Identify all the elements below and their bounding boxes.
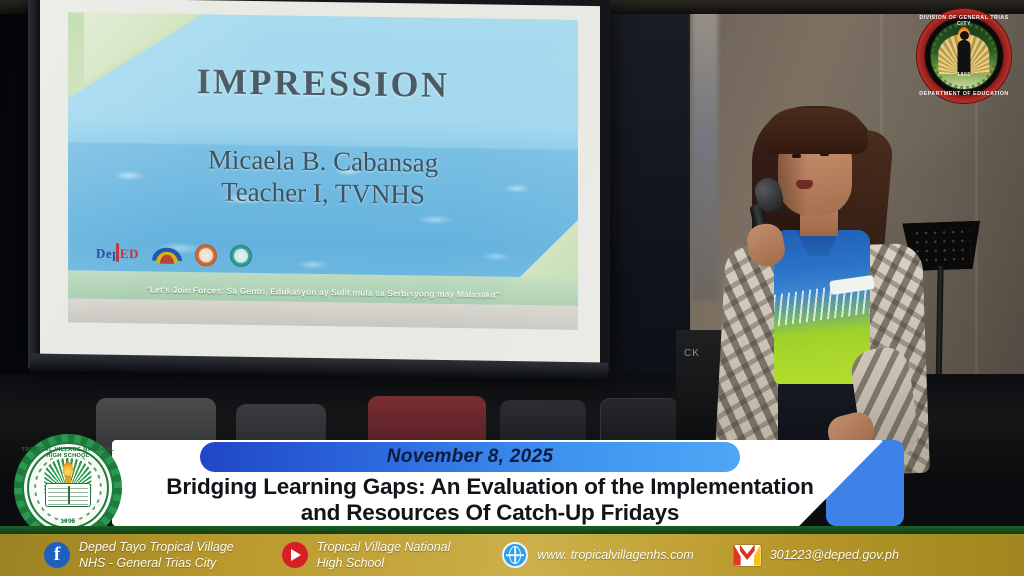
school-seal-text-top: TROPICAL VILLAGE NATIONAL HIGH SCHOOL <box>14 447 122 459</box>
globe-icon[interactable] <box>502 542 528 568</box>
facebook-text: Deped Tayo Tropical Village NHS - Genera… <box>79 539 234 571</box>
footer-contact-bar: f Deped Tayo Tropical Village NHS - Gene… <box>0 534 1024 576</box>
presenter-eye-left <box>792 154 801 158</box>
school-seal-year: 1995 <box>14 519 122 525</box>
banner-title-line2: and Resources Of Catch-Up Fridays <box>120 500 860 526</box>
division-seal-text-bottom: DEPARTMENT OF EDUCATION <box>916 91 1012 97</box>
projection-screen-left-edge <box>28 0 40 368</box>
projection-screen-surface: IMPRESSION Micaela B. Cabansag Teacher I… <box>40 0 600 372</box>
slide-title: IMPRESSION <box>68 58 578 108</box>
presenter-mouth <box>796 180 813 189</box>
deped-wordmark-icon: DepED <box>96 246 139 263</box>
website-url: www. tropicalvillagenhs.com <box>537 547 693 563</box>
banner-title: Bridging Learning Gaps: An Evaluation of… <box>120 474 860 527</box>
website-text: www. tropicalvillagenhs.com <box>537 547 693 563</box>
contact-website[interactable]: www. tropicalvillagenhs.com <box>502 542 693 568</box>
youtube-line2: High School <box>317 555 451 571</box>
presentation-slide: IMPRESSION Micaela B. Cabansag Teacher I… <box>68 12 578 330</box>
slide-presenter: Micaela B. Cabansag Teacher I, TVNHS <box>68 142 578 213</box>
division-seal-small-icon <box>195 244 217 266</box>
presenter-person <box>700 96 930 468</box>
banner-title-line1: Bridging Learning Gaps: An Evaluation of… <box>120 474 860 500</box>
banner-date: November 8, 2025 <box>200 442 740 472</box>
division-seal-text-top: DIVISION OF GENERAL TRIAS CITY <box>916 15 1012 27</box>
email-address: 301223@deped.gov.ph <box>770 547 899 563</box>
footer-green-strip <box>0 526 1024 534</box>
loudspeaker-brand: CK <box>684 348 700 359</box>
facebook-line2: NHS - General Trias City <box>79 555 234 571</box>
contact-youtube[interactable]: Tropical Village National High School <box>282 539 451 571</box>
division-seal-wreath <box>931 23 996 88</box>
contact-facebook[interactable]: f Deped Tayo Tropical Village NHS - Gene… <box>44 539 234 571</box>
youtube-icon[interactable] <box>282 542 308 568</box>
bagong-pilipinas-icon <box>152 245 182 264</box>
school-seal-book-lines <box>48 488 88 506</box>
contact-email[interactable]: 301223@deped.gov.ph <box>734 545 899 566</box>
school-seal-core <box>36 456 100 520</box>
gmail-icon[interactable] <box>734 545 761 566</box>
school-seal-small-icon <box>230 245 252 267</box>
division-seal: DIVISION OF GENERAL TRIAS CITY 1895 DEPA… <box>916 8 1012 104</box>
school-seal-flame <box>63 462 74 476</box>
youtube-text: Tropical Village National High School <box>317 539 451 571</box>
lower-third-banner: November 8, 2025 Bridging Learning Gaps:… <box>0 438 1024 528</box>
facebook-line1: Deped Tayo Tropical Village <box>79 539 234 555</box>
division-seal-year: 1895 <box>916 72 1012 78</box>
facebook-icon[interactable]: f <box>44 542 70 568</box>
screenshot-root: CK IMPRESSION Micaela B. Cabansag Teache… <box>0 0 1024 576</box>
email-text: 301223@deped.gov.ph <box>770 547 899 563</box>
youtube-line1: Tropical Village National <box>317 539 451 555</box>
presenter-hair-front <box>762 108 868 154</box>
slide-logo-row: DepED <box>96 243 252 267</box>
